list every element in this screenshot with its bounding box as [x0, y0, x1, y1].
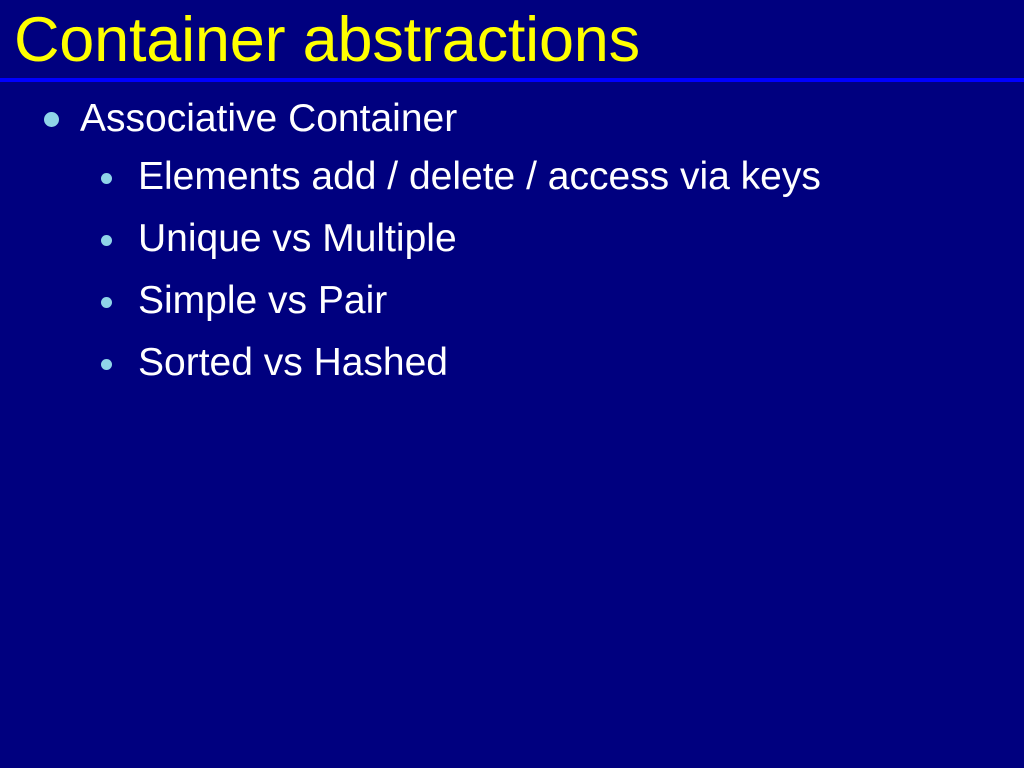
title-divider: [0, 78, 1024, 82]
list-item: Elements add / delete / access via keys: [0, 146, 1024, 208]
list-item: Unique vs Multiple: [0, 208, 1024, 270]
list-item: Simple vs Pair: [0, 270, 1024, 332]
disc-bullet-icon: [101, 173, 112, 184]
list-item-label: Sorted vs Hashed: [138, 332, 928, 394]
list-item: Associative Container: [0, 92, 1024, 146]
list-item-label: Unique vs Multiple: [138, 208, 928, 270]
page-title: Container abstractions: [14, 2, 1010, 78]
list-item-label: Simple vs Pair: [138, 270, 928, 332]
disc-bullet-icon: [101, 235, 112, 246]
slide-canvas: Container abstractions Associative Conta…: [0, 0, 1024, 768]
disc-bullet-icon: [101, 359, 112, 370]
list-item: Sorted vs Hashed: [0, 332, 1024, 394]
bullet-list: Associative Container Elements add / del…: [0, 92, 1024, 394]
list-item-label: Elements add / delete / access via keys: [138, 146, 928, 208]
disc-bullet-icon: [44, 112, 59, 127]
list-item-label: Associative Container: [80, 92, 870, 146]
disc-bullet-icon: [101, 297, 112, 308]
